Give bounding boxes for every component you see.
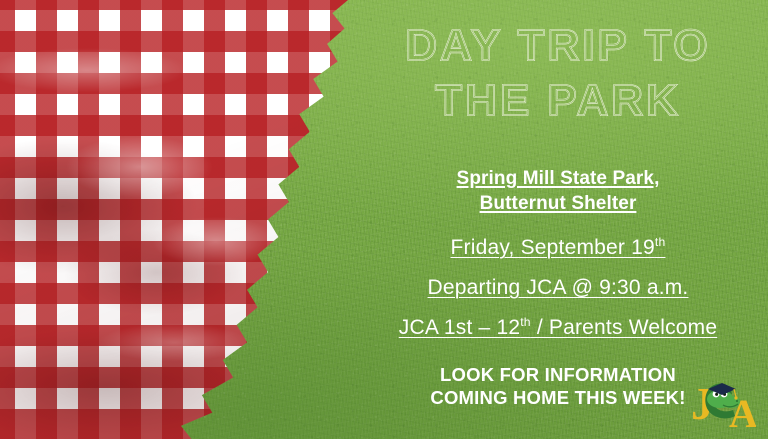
flyer-title: DAY TRIP TO THE PARK xyxy=(348,18,768,128)
departure-info: Departing JCA @ 9:30 a.m. xyxy=(348,276,768,300)
event-date: Friday, September 19th xyxy=(348,236,768,260)
blanket-fold-highlights xyxy=(0,0,348,439)
venue-line-1: Spring Mill State Park, xyxy=(348,166,768,191)
picnic-blanket-image xyxy=(0,0,348,439)
jca-logo: J A xyxy=(688,369,756,431)
event-details: Spring Mill State Park, Butternut Shelte… xyxy=(348,166,768,340)
grades-ordinal-suffix: th xyxy=(520,315,531,329)
grades-and-audience: JCA 1st – 12th / Parents Welcome xyxy=(348,316,768,340)
gingham-pattern xyxy=(0,0,348,439)
departure-text: Departing JCA @ 9:30 a.m. xyxy=(428,276,689,299)
flyer-canvas: DAY TRIP TO THE PARK Spring Mill State P… xyxy=(0,0,768,439)
blanket-fold-shadows xyxy=(0,0,348,439)
event-date-text: Friday, September 19 xyxy=(451,236,655,259)
event-date-ordinal-suffix: th xyxy=(655,235,666,249)
parents-welcome-text: / Parents Welcome xyxy=(531,316,717,339)
grades-range-text: JCA 1st – 12 xyxy=(399,316,520,339)
venue-name: Spring Mill State Park, Butternut Shelte… xyxy=(348,166,768,216)
venue-line-2: Butternut Shelter xyxy=(348,191,768,216)
